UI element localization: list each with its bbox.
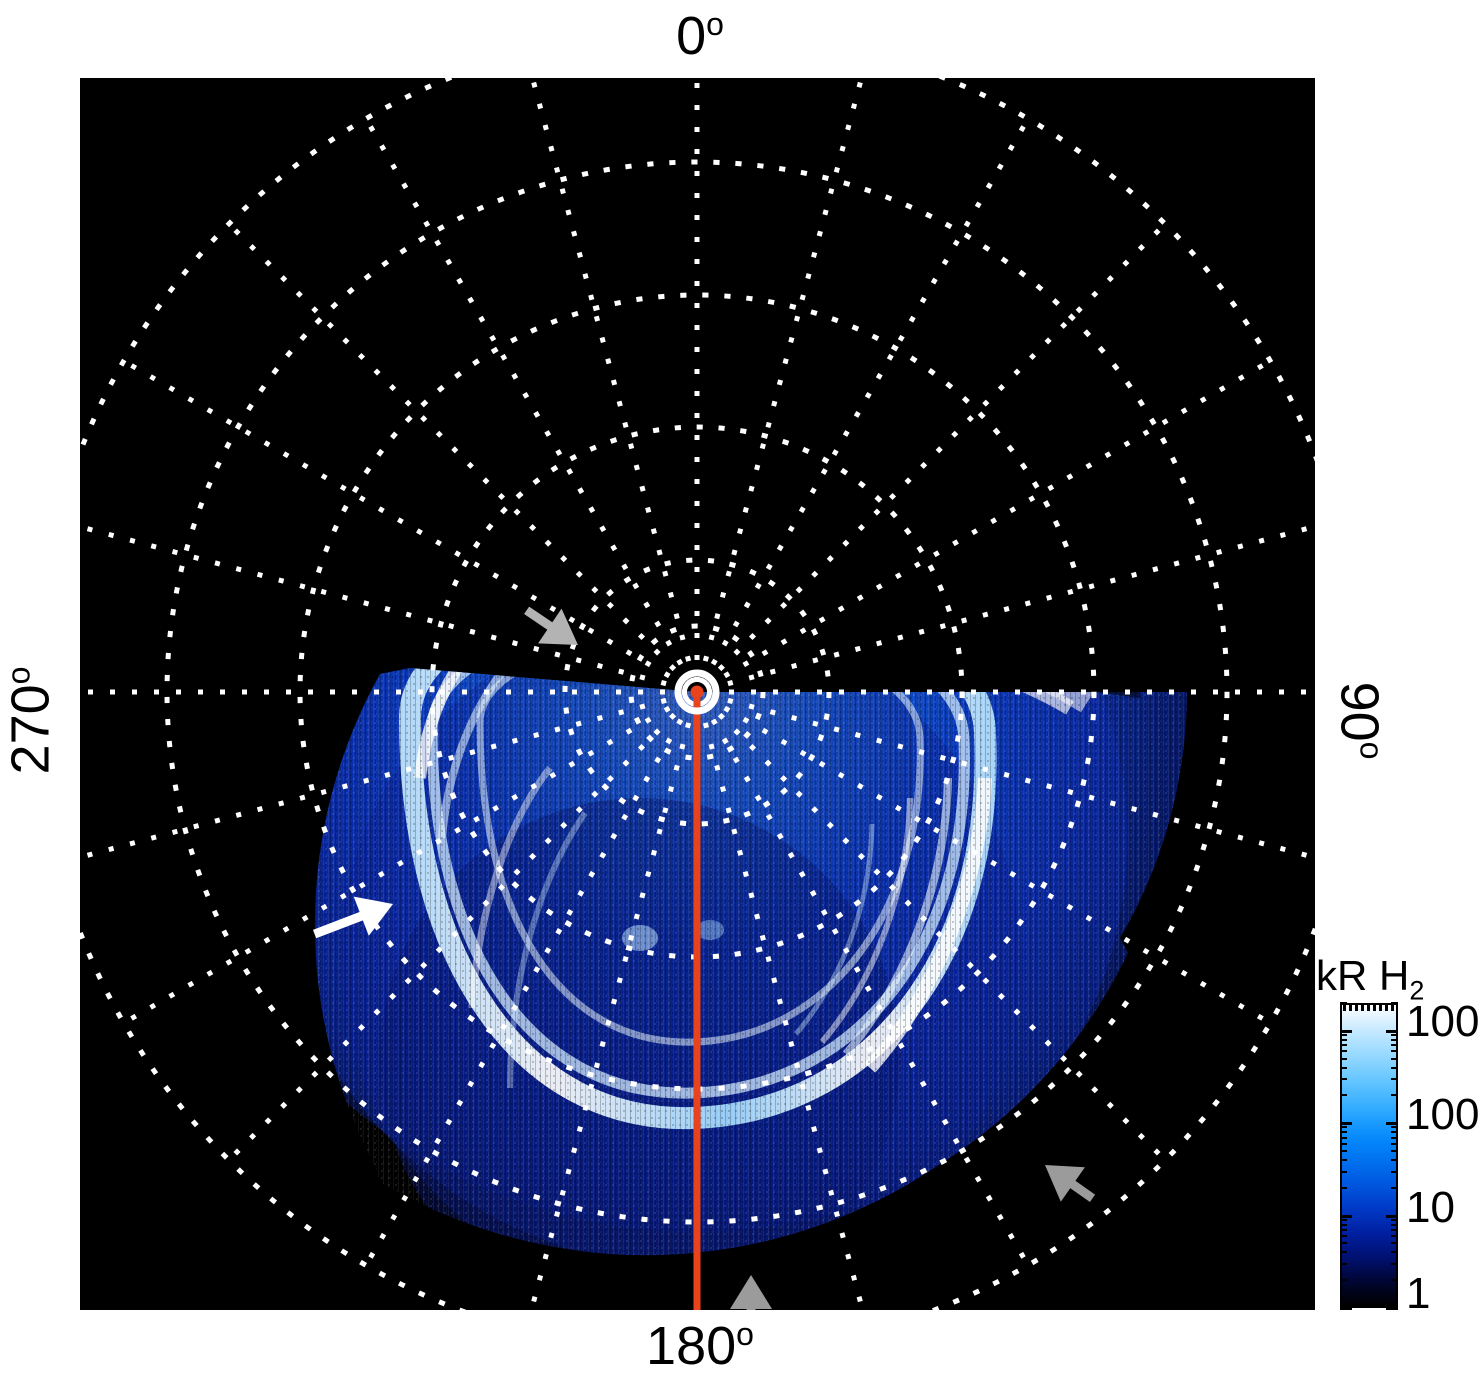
azimuth-label-0: 0o [0, 8, 1400, 63]
azimuth-label-180: 180o [0, 1318, 1400, 1373]
gray-arrow-lower [730, 1275, 772, 1310]
polar-aurora-figure: 0o 180o 270o 90o [0, 0, 1481, 1386]
degree-symbol-icon: o [706, 6, 724, 42]
azimuth-label-0-value: 0 [676, 6, 706, 66]
colorbar-tick-label-100: 100 [1406, 1093, 1479, 1137]
degree-symbol-icon: o [736, 1316, 754, 1352]
gray-arrow-upper [527, 609, 578, 645]
azimuth-label-180-value: 180 [646, 1316, 736, 1376]
gray-arrow-dawn [1045, 1165, 1093, 1202]
azimuth-label-270: 270o [3, 631, 58, 811]
azimuth-label-90: 90o [1333, 631, 1388, 811]
polar-plot-panel [80, 78, 1315, 1310]
annotation-arrows [80, 78, 1315, 1310]
colorbar-title-text: kR H [1316, 952, 1409, 999]
colorbar-tick-label-10: 10 [1406, 1186, 1455, 1230]
colorbar-tick-label-1: 1 [1406, 1272, 1430, 1316]
azimuth-label-270-value: 270 [1, 684, 61, 774]
azimuth-label-90-value: 90 [1330, 682, 1390, 742]
degree-symbol-icon: o [1354, 742, 1390, 760]
degree-symbol-icon: o [1, 667, 37, 685]
gray-arrow-lower-head [730, 1275, 772, 1309]
colorbar[interactable] [1340, 1003, 1398, 1308]
colorbar-gradient [1340, 1003, 1398, 1308]
colorbar-tick-label-1000: 1000 [1406, 1000, 1481, 1044]
white-arrow-dusk [315, 897, 393, 936]
